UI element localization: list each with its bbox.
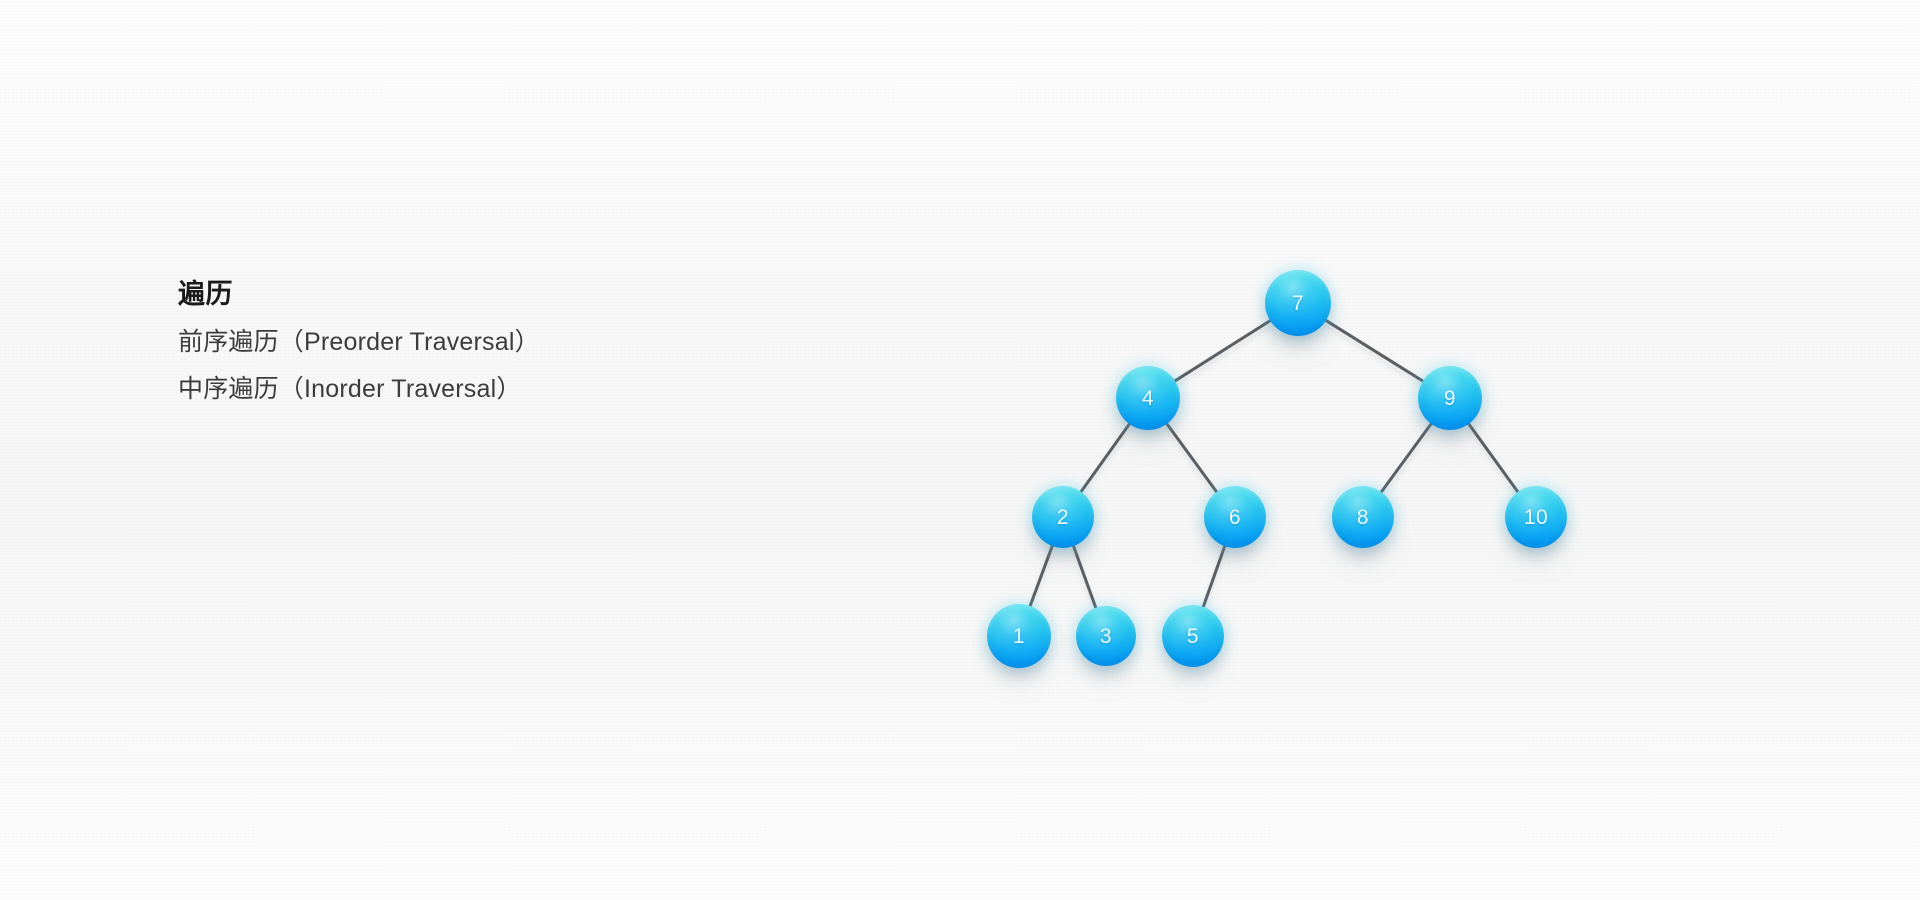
- traversal-line-inorder: 中序遍历（Inorder Traversal）: [178, 377, 540, 402]
- tree-edge: [1324, 319, 1424, 382]
- tree-node-label: 10: [1524, 507, 1548, 528]
- tree-node-4[interactable]: 4: [1116, 366, 1180, 430]
- tree-node-3[interactable]: 3: [1076, 606, 1136, 666]
- tree-node-label: 4: [1142, 388, 1154, 409]
- tree-node-6[interactable]: 6: [1204, 486, 1266, 548]
- tree-node-label: 3: [1100, 626, 1112, 647]
- tree-node-label: 1: [1013, 626, 1025, 647]
- tree-edge: [1173, 320, 1271, 382]
- tree-node-label: 5: [1187, 626, 1199, 647]
- tree-node-7[interactable]: 7: [1265, 270, 1331, 336]
- tree-node-label: 8: [1357, 507, 1369, 528]
- tree-node-label: 6: [1229, 507, 1241, 528]
- tree-edge: [1029, 544, 1053, 608]
- tree-node-9[interactable]: 9: [1418, 366, 1482, 430]
- tree-node-1[interactable]: 1: [987, 604, 1051, 668]
- tree-node-10[interactable]: 10: [1505, 486, 1567, 548]
- tree-edge: [1073, 544, 1097, 609]
- tree-edge: [1166, 422, 1218, 493]
- slide-canvas: 遍历 前序遍历（Preorder Traversal） 中序遍历（Inorder…: [0, 0, 1920, 900]
- tree-node-label: 2: [1057, 507, 1069, 528]
- tree-edge: [1080, 422, 1131, 493]
- tree-edge: [1468, 422, 1519, 493]
- tree-node-5[interactable]: 5: [1162, 605, 1224, 667]
- binary-tree-diagram: 74926810135: [0, 0, 1920, 900]
- tree-edge: [1203, 544, 1226, 608]
- tree-node-2[interactable]: 2: [1032, 486, 1094, 548]
- tree-node-8[interactable]: 8: [1332, 486, 1394, 548]
- page-title: 遍历: [178, 278, 540, 312]
- traversal-text-block: 遍历 前序遍历（Preorder Traversal） 中序遍历（Inorder…: [178, 278, 540, 402]
- tree-node-label: 9: [1444, 388, 1456, 409]
- tree-edges-layer: [0, 0, 1920, 900]
- traversal-line-preorder: 前序遍历（Preorder Traversal）: [178, 330, 540, 355]
- tree-edge: [1380, 422, 1432, 493]
- tree-node-label: 7: [1292, 293, 1304, 314]
